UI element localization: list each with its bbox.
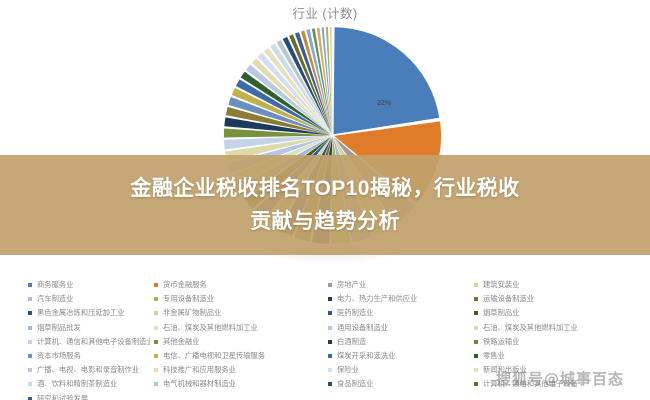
legend-swatch-icon [328, 354, 332, 358]
legend-item-label: 通用设备制造业 [337, 321, 388, 335]
legend-item[interactable]: 房地产业 [328, 278, 466, 292]
legend-item[interactable]: 医药制造业 [328, 306, 466, 320]
legend-swatch-icon [328, 368, 332, 372]
legend-item[interactable]: 煤炭开采和选洗业 [328, 349, 466, 363]
legend-item[interactable]: 通用设备制造业 [328, 321, 466, 335]
chart-screenshot: 行业 (计数) 22% 4% 13% 金融企业税收排名TOP10揭秘，行业税收 … [0, 0, 650, 400]
legend-item[interactable]: 石油、煤炭及其他燃料加工业 [474, 321, 650, 335]
chart-title: 行业 (计数) [0, 3, 650, 22]
legend-swatch-icon [474, 297, 478, 301]
legend-swatch-icon [28, 340, 32, 344]
legend-item-label: 房地产业 [337, 278, 366, 292]
legend-item[interactable]: 电力、热力生产和供应业 [328, 292, 466, 306]
legend-column-3: 房地产业电力、热力生产和供应业医药制造业通用设备制造业白酒制造煤炭开采和选洗业保… [318, 278, 466, 396]
legend-item[interactable]: 计算机、通信和其他电子设备制造业 [28, 335, 150, 349]
legend-swatch-icon [28, 397, 32, 400]
legend-item[interactable]: 货币金融服务 [154, 278, 318, 292]
legend-swatch-icon [474, 368, 478, 372]
legend-swatch-icon [474, 311, 478, 315]
legend-swatch-icon [28, 326, 32, 330]
pie-main-percent-label: 22% [377, 100, 391, 107]
legend-item[interactable]: 电信、广播电视和卫星传输服务 [154, 349, 318, 363]
headline-banner: 金融企业税收排名TOP10揭秘，行业税收 贡献与趋势分析 [0, 155, 650, 255]
legend-item-label: 计算机、通信和其他电子设备制造业 [37, 335, 150, 349]
legend-swatch-icon [328, 311, 332, 315]
legend-item[interactable]: 电气机械和器材制造业 [154, 377, 318, 391]
legend-item-label: 研究和试验发展 [37, 392, 88, 400]
legend-item[interactable]: 铁路运输业 [474, 335, 650, 349]
legend-item-label: 广播、电视、电影和录音制作业 [37, 363, 139, 377]
legend-item-label: 科技推广和应用服务业 [163, 363, 236, 377]
legend-swatch-icon [28, 297, 32, 301]
pie-slice[interactable] [330, 27, 332, 134]
legend-swatch-icon [28, 311, 32, 315]
legend-item-label: 其他金融业 [163, 335, 199, 349]
pie-slice[interactable] [334, 27, 440, 134]
legend-item-label: 电气机械和器材制造业 [163, 377, 236, 391]
legend-swatch-icon [154, 311, 158, 315]
legend-item-label: 建筑安装业 [483, 278, 519, 292]
legend-item-label: 食品制造业 [337, 377, 373, 391]
legend-item[interactable]: 烟草制品业 [474, 306, 650, 320]
headline-line-2: 贡献与趋势分析 [250, 210, 400, 233]
legend-item-label: 专用设备制造业 [163, 292, 214, 306]
watermark-text: 搜狐号@城事百态 [496, 368, 624, 389]
legend-swatch-icon [328, 326, 332, 330]
legend-item[interactable]: 白酒制造 [328, 335, 466, 349]
legend-item[interactable]: 石油、煤炭及其他燃料加工业 [154, 321, 318, 335]
legend-swatch-icon [154, 326, 158, 330]
legend-item[interactable]: 商务服务业 [28, 278, 150, 292]
legend-swatch-icon [28, 368, 32, 372]
legend-item[interactable]: 食品制造业 [328, 377, 466, 391]
legend-swatch-icon [154, 340, 158, 344]
legend-item-label: 保险业 [337, 363, 359, 377]
legend-item-label: 黑色金属冶炼和压延加工业 [37, 306, 125, 320]
legend-swatch-icon [474, 354, 478, 358]
legend-swatch-icon [28, 354, 32, 358]
legend-item-label: 货币金融服务 [163, 278, 207, 292]
legend-swatch-icon [474, 283, 478, 287]
legend-item[interactable]: 非金属矿物制品业 [154, 306, 318, 320]
headline-line-1: 金融企业税收排名TOP10揭秘，行业税收 [130, 177, 519, 200]
legend-item[interactable]: 广播、电视、电影和录音制作业 [28, 363, 150, 377]
legend-swatch-icon [474, 340, 478, 344]
legend-item-label: 铁路运输业 [483, 335, 519, 349]
legend-swatch-icon [328, 283, 332, 287]
legend-item-label: 酒、饮料和精制茶制造业 [37, 377, 117, 391]
legend-item-label: 汽车制造业 [37, 292, 73, 306]
legend-item-label: 医药制造业 [337, 306, 373, 320]
legend-item[interactable]: 研究和试验发展 [28, 392, 150, 400]
legend-item[interactable]: 黑色金属冶炼和压延加工业 [28, 306, 150, 320]
legend-swatch-icon [474, 326, 478, 330]
legend-item-label: 零售业 [483, 349, 505, 363]
legend-item-label: 电信、广播电视和卫星传输服务 [163, 349, 265, 363]
legend-item-label: 非金属矿物制品业 [163, 306, 221, 320]
legend-column-2: 货币金融服务专用设备制造业非金属矿物制品业石油、煤炭及其他燃料加工业其他金融业电… [150, 278, 318, 396]
legend-swatch-icon [154, 382, 158, 386]
headline-text: 金融企业税收排名TOP10揭秘，行业税收 贡献与趋势分析 [130, 172, 519, 238]
legend-item-label: 电力、热力生产和供应业 [337, 292, 417, 306]
legend-swatch-icon [328, 340, 332, 344]
legend-item-label: 石油、煤炭及其他燃料加工业 [163, 321, 258, 335]
legend-swatch-icon [328, 382, 332, 386]
legend-item-label: 烟草制品批发 [37, 321, 81, 335]
legend-swatch-icon [154, 368, 158, 372]
legend-item[interactable]: 零售业 [474, 349, 650, 363]
legend-item[interactable]: 资本市场服务 [28, 349, 150, 363]
legend-swatch-icon [474, 382, 478, 386]
legend-item[interactable]: 保险业 [328, 363, 466, 377]
legend-swatch-icon [328, 297, 332, 301]
legend-item-label: 资本市场服务 [37, 349, 81, 363]
legend-item-label: 烟草制品业 [483, 306, 519, 320]
legend-swatch-icon [154, 283, 158, 287]
legend-item[interactable]: 汽车制造业 [28, 292, 150, 306]
legend-item[interactable]: 专用设备制造业 [154, 292, 318, 306]
legend-item-label: 石油、煤炭及其他燃料加工业 [483, 321, 578, 335]
legend-column-1: 商务服务业汽车制造业黑色金属冶炼和压延加工业烟草制品批发计算机、通信和其他电子设… [0, 278, 150, 396]
legend-swatch-icon [154, 354, 158, 358]
legend-item-label: 商务服务业 [37, 278, 73, 292]
legend-item-label: 运输设备制造业 [483, 292, 534, 306]
legend-item[interactable]: 烟草制品批发 [28, 321, 150, 335]
legend-item[interactable]: 运输设备制造业 [474, 292, 650, 306]
legend-item[interactable]: 其他金融业 [154, 335, 318, 349]
legend-swatch-icon [28, 283, 32, 287]
legend-item-label: 白酒制造 [337, 335, 366, 349]
legend-item[interactable]: 酒、饮料和精制茶制造业 [28, 377, 150, 391]
legend-item[interactable]: 建筑安装业 [474, 278, 650, 292]
legend-swatch-icon [154, 297, 158, 301]
legend-item[interactable]: 科技推广和应用服务业 [154, 363, 318, 377]
legend-item-label: 煤炭开采和选洗业 [337, 349, 395, 363]
legend-swatch-icon [28, 382, 32, 386]
